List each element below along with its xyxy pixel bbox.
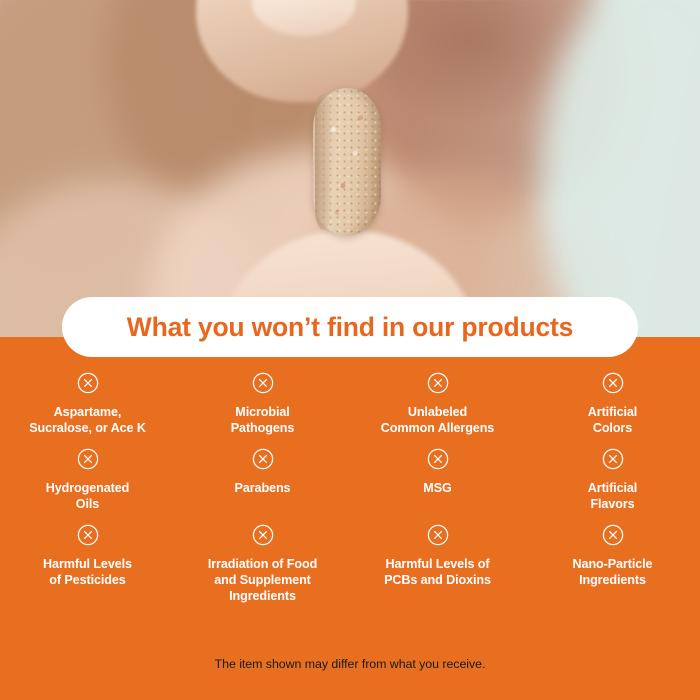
exclusion-label: Harmful Levels of PCBs and Dioxins [384, 556, 491, 588]
exclusion-label: Aspartame, Sucralose, or Ace K [29, 404, 146, 436]
exclusion-label: Nano-Particle Ingredients [573, 556, 653, 588]
page-title: What you won’t find in our products [127, 312, 573, 343]
exclusions-grid: Aspartame, Sucralose, or Ace K Microbial… [0, 372, 700, 604]
x-circle-icon [427, 524, 449, 546]
supplement-tablet [313, 88, 381, 236]
x-circle-icon [77, 524, 99, 546]
headline-emphasis: won’t [252, 312, 320, 342]
x-circle-icon [77, 372, 99, 394]
headline-text-before: What you [127, 312, 252, 342]
exclusion-item: Parabens [175, 448, 350, 512]
x-circle-icon [252, 448, 274, 470]
x-circle-icon [602, 448, 624, 470]
exclusion-label: Irradiation of Food and Supplement Ingre… [208, 556, 317, 604]
exclusion-item: Harmful Levels of PCBs and Dioxins [350, 524, 525, 604]
product-infographic: What you won’t find in our products Aspa… [0, 0, 700, 700]
exclusion-item: Artificial Colors [525, 372, 700, 436]
exclusion-item: Irradiation of Food and Supplement Ingre… [175, 524, 350, 604]
exclusion-label: Artificial Flavors [588, 480, 637, 512]
tablet-side-edge [315, 94, 332, 230]
exclusion-label: Parabens [235, 480, 291, 496]
disclaimer-text: The item shown may differ from what you … [0, 657, 700, 671]
exclusion-label: Artificial Colors [588, 404, 637, 436]
product-photo [0, 0, 700, 345]
x-circle-icon [427, 372, 449, 394]
exclusion-item: Artificial Flavors [525, 448, 700, 512]
exclusion-label: MSG [423, 480, 451, 496]
x-circle-icon [252, 524, 274, 546]
exclusion-label: Harmful Levels of Pesticides [43, 556, 132, 588]
x-circle-icon [602, 372, 624, 394]
x-circle-icon [427, 448, 449, 470]
exclusion-label: Microbial Pathogens [231, 404, 294, 436]
exclusion-item: Nano-Particle Ingredients [525, 524, 700, 604]
exclusion-item: Microbial Pathogens [175, 372, 350, 436]
x-circle-icon [602, 524, 624, 546]
exclusion-item: Aspartame, Sucralose, or Ace K [0, 372, 175, 436]
exclusion-label: Hydrogenated Oils [46, 480, 129, 512]
exclusion-item: Unlabeled Common Allergens [350, 372, 525, 436]
x-circle-icon [252, 372, 274, 394]
exclusion-item: Hydrogenated Oils [0, 448, 175, 512]
exclusion-label: Unlabeled Common Allergens [381, 404, 494, 436]
exclusion-item: MSG [350, 448, 525, 512]
headline-text-after: find in our products [320, 312, 573, 342]
headline-pill: What you won’t find in our products [62, 297, 638, 357]
photo-blur-shape [540, 0, 700, 345]
x-circle-icon [77, 448, 99, 470]
exclusion-item: Harmful Levels of Pesticides [0, 524, 175, 604]
